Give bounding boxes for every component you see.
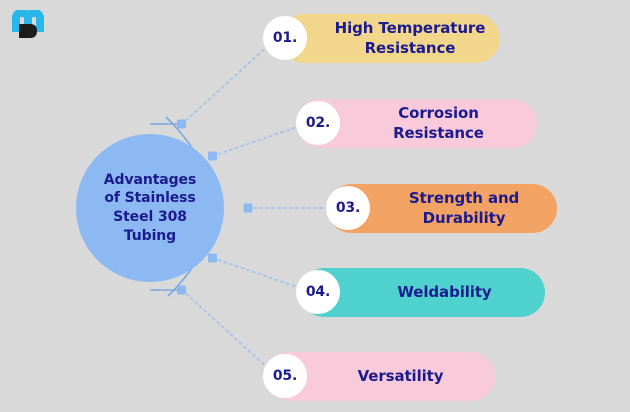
number-badge-text-1: 01. <box>273 30 297 46</box>
infographic-canvas: Advantages of Stainless Steel 308 Tubing… <box>0 0 630 412</box>
advantage-label-4: Weldability <box>397 283 491 303</box>
leader-line-5 <box>182 290 270 370</box>
arc-node-4 <box>208 254 217 263</box>
number-badge-4: 04. <box>296 270 340 314</box>
number-badge-text-4: 04. <box>306 284 330 300</box>
arc-node-2 <box>208 152 217 161</box>
leader-line-4 <box>213 258 300 288</box>
advantage-label-2: Corrosion Resistance <box>393 104 484 143</box>
center-topic-title: Advantages of Stainless Steel 308 Tubing <box>96 171 204 245</box>
advantage-label-5: Versatility <box>358 367 444 387</box>
advantage-pill-1[interactable]: High Temperature Resistance <box>280 14 500 63</box>
number-badge-5: 05. <box>263 354 307 398</box>
number-badge-3: 03. <box>326 186 370 230</box>
number-badge-2: 02. <box>296 101 340 145</box>
number-badge-text-3: 03. <box>336 200 360 216</box>
center-topic-circle: Advantages of Stainless Steel 308 Tubing <box>76 134 224 282</box>
advantage-label-3: Strength and Durability <box>409 189 519 228</box>
number-badge-1: 01. <box>263 16 307 60</box>
advantage-label-1: High Temperature Resistance <box>335 19 486 58</box>
leader-line-1 <box>182 44 270 124</box>
arc-node-5 <box>177 286 186 295</box>
arc-node-1 <box>177 120 186 129</box>
number-badge-text-2: 02. <box>306 115 330 131</box>
leader-line-2 <box>213 126 300 156</box>
arc-node-3 <box>244 204 253 213</box>
number-badge-text-5: 05. <box>273 368 297 384</box>
